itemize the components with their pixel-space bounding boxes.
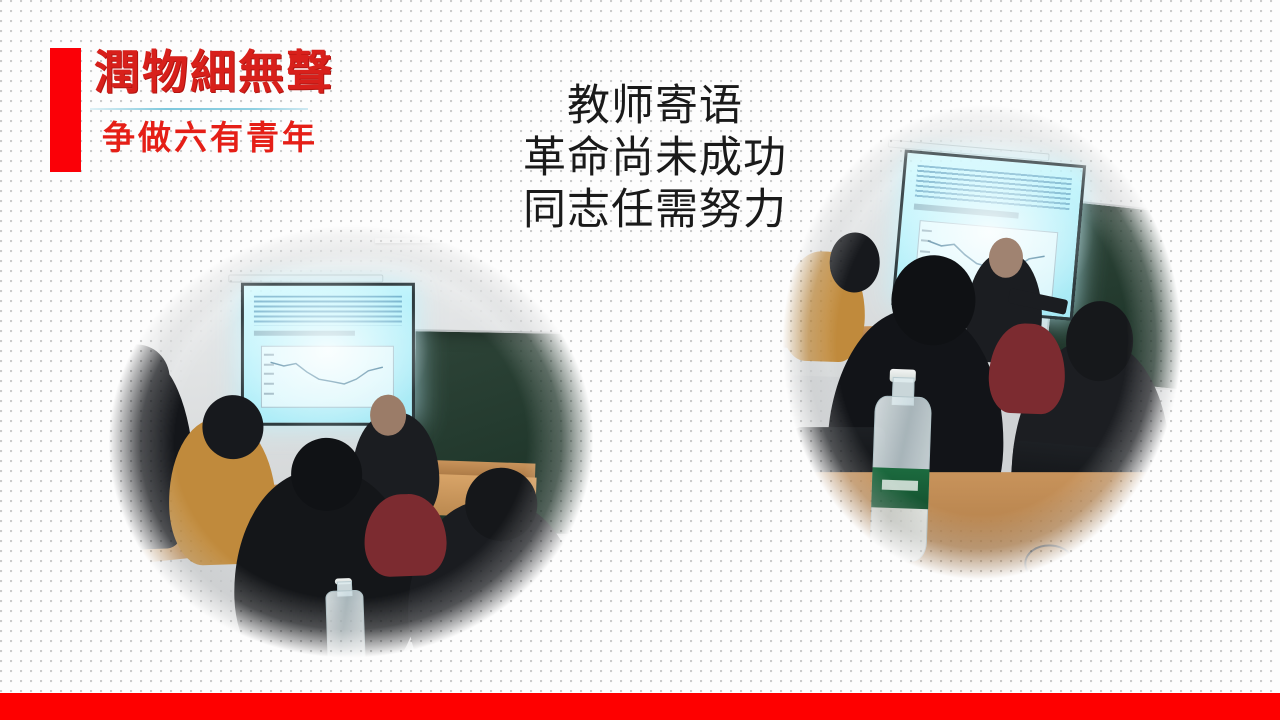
bottle-label-text bbox=[882, 480, 919, 491]
slide-subtitle-text bbox=[254, 331, 355, 336]
slide-header-text bbox=[914, 164, 1072, 210]
water-bottle bbox=[869, 368, 930, 560]
slide-sub-title: 争做六有青年 bbox=[102, 118, 318, 158]
photo-classroom-lecture-close bbox=[763, 85, 1200, 599]
photo-scene bbox=[88, 205, 614, 678]
presentation-slide: 潤物細無聲 争做六有青年 教师寄语 革命尚未成功 同志任需努力 bbox=[0, 0, 1280, 720]
ceiling-light-strip bbox=[375, 238, 487, 243]
red-accent-bar bbox=[50, 48, 81, 172]
title-block: 潤物細無聲 争做六有青年 bbox=[50, 46, 470, 176]
bottle-body bbox=[869, 395, 931, 562]
chart-line-path bbox=[267, 353, 388, 401]
water-bottle bbox=[325, 578, 364, 666]
bottom-red-bar bbox=[0, 693, 1280, 720]
slide-header-text bbox=[254, 296, 402, 326]
photo-scene bbox=[763, 85, 1200, 599]
title-divider bbox=[90, 108, 308, 110]
slide-chart bbox=[261, 346, 394, 408]
slide-subtitle-text bbox=[913, 203, 1019, 218]
bottle-label bbox=[871, 468, 929, 509]
projector-screen-rail bbox=[228, 275, 383, 283]
slide-main-title: 潤物細無聲 bbox=[94, 46, 334, 98]
photo-classroom-lecture-wide bbox=[88, 205, 614, 678]
foreground-wooden-desk bbox=[763, 472, 1200, 599]
bottle-body bbox=[326, 590, 366, 668]
